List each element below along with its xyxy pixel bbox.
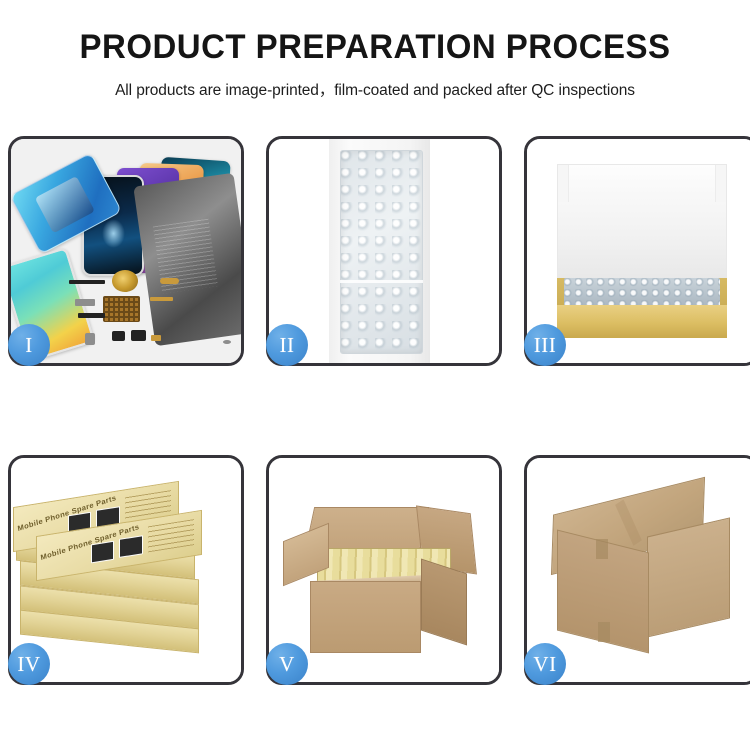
photo-inner-box (527, 139, 750, 363)
step-badge-1: I (8, 324, 50, 366)
flex-cable-icon (69, 280, 105, 284)
step-card-6[interactable]: VI (524, 455, 750, 685)
step-card-1[interactable]: I (8, 136, 244, 366)
step-badge-5: V (266, 643, 308, 685)
step-image-4: Mobile Phone Spare Parts Mobile Phone Sp… (11, 458, 241, 682)
kraft-box-front-icon (557, 305, 727, 339)
step-badge-4: IV (8, 643, 50, 685)
carton-side-face (421, 558, 467, 645)
step-image-3 (527, 139, 750, 363)
photo-stacked-boxes: Mobile Phone Spare Parts Mobile Phone Sp… (11, 458, 241, 682)
small-part-a-icon (112, 331, 125, 341)
product-preparation-infographic: PRODUCT PREPARATION PROCESS All products… (0, 0, 750, 750)
step-badge-3: III (524, 324, 566, 366)
bracket-icon (75, 299, 95, 306)
page-subtitle: All products are image-printed，film-coat… (0, 78, 750, 100)
gold-connector-icon (160, 278, 180, 283)
header: PRODUCT PREPARATION PROCESS All products… (0, 0, 750, 100)
photo-bubble-wrap (269, 139, 499, 363)
box-stack: Mobile Phone Spare Parts Mobile Phone Sp… (11, 458, 241, 682)
box-label-lines-front (149, 519, 195, 553)
tape-seal-top-icon (596, 539, 608, 559)
step-badge-2: II (266, 324, 308, 366)
step-card-5[interactable]: V (266, 455, 502, 685)
screen-photo-chip-d (119, 535, 144, 559)
bubble-wrapped-items-icon (564, 278, 720, 307)
photo-products (11, 139, 241, 363)
gold-flex-icon (150, 297, 173, 301)
small-part-b-icon (131, 330, 146, 341)
photo-open-carton (269, 458, 499, 682)
cable-strip-icon (78, 313, 104, 318)
spare-parts-cluster (69, 273, 235, 358)
step-card-2[interactable]: II (266, 136, 502, 366)
small-part-c-icon (85, 333, 95, 345)
tape-seal-bottom-icon (598, 622, 610, 642)
screen-photo-chip-c (91, 541, 114, 563)
screw-icon (151, 335, 161, 341)
carton-front-face (310, 581, 420, 653)
photo-sealed-carton (527, 458, 750, 682)
step-card-4[interactable]: Mobile Phone Spare Parts Mobile Phone Sp… (8, 455, 244, 685)
wrap-seam (340, 280, 423, 283)
process-step-grid: I II (8, 136, 742, 685)
step-image-2 (269, 139, 499, 363)
step-image-1 (11, 139, 241, 363)
step-image-6 (527, 458, 750, 682)
bubble-wrap-icon (340, 150, 423, 354)
white-box-lid-icon (557, 164, 727, 292)
step-image-5 (269, 458, 499, 682)
page-title: PRODUCT PREPARATION PROCESS (11, 30, 739, 66)
step-badge-6: VI (524, 643, 566, 685)
step-card-3[interactable]: III (524, 136, 750, 366)
carton-right-face-icon (647, 518, 730, 638)
ic-chip-icon (103, 296, 139, 322)
screw-small-icon (223, 340, 231, 344)
speaker-coil-icon (112, 270, 138, 292)
